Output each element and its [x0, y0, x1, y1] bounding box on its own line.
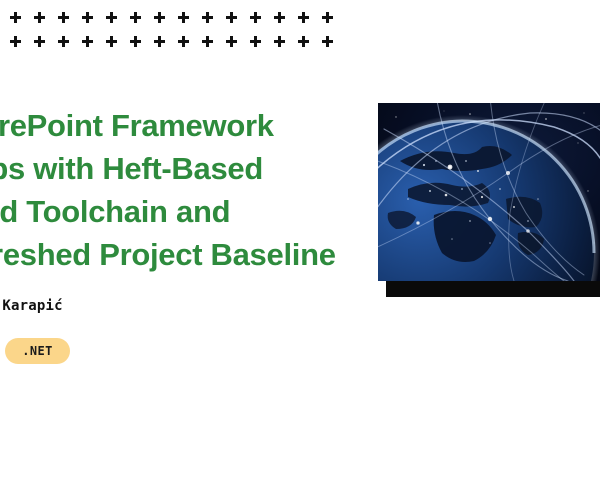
hero-image-globe — [378, 103, 600, 281]
tag-pill[interactable]: .NET — [5, 338, 70, 364]
page-title: SharePoint Framework Ships with Heft-Bas… — [0, 104, 372, 276]
tag-list: JS.NET — [0, 314, 372, 364]
hero-image-container — [378, 103, 600, 289]
globe-network-illustration — [378, 103, 600, 281]
post-text-column: SharePoint Framework Ships with Heft-Bas… — [0, 104, 372, 364]
author-byline: Nikola Karapić — [0, 276, 372, 314]
blog-post-hero-card: SharePoint Framework Ships with Heft-Bas… — [0, 0, 600, 500]
